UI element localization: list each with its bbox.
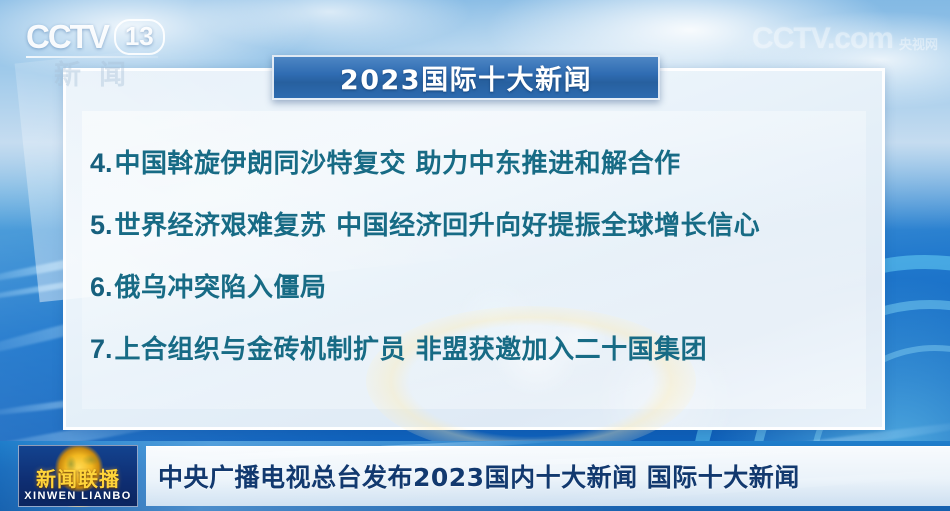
news-list-item: 7. 上合组织与金砖机制扩员 非盟获邀加入二十国集团 [90,329,858,366]
news-item-number: 6. [90,272,113,303]
news-item-number: 4. [90,148,113,179]
news-content-panel: 新闻 4. 中国斡旋伊朗同沙特复交 助力中东推进和解合作 5. 世界经济艰难复苏… [63,68,885,430]
lower-third-bar: 新闻联播 XINWEN LIANBO 中央广播电视总台发布2023国内十大新闻 … [0,441,950,511]
cctv-logo-text: CCTV [26,18,108,56]
ticker-bar: 中央广播电视总台发布2023国内十大新闻 国际十大新闻 [146,446,950,506]
watermark-latin-text: CCTV.com [752,22,893,56]
cctv-com-watermark: CCTV.com 央视网 [752,22,938,56]
headline-title-text: 2023国际十大新闻 [340,58,592,97]
ticker-headline-text: 中央广播电视总台发布2023国内十大新闻 国际十大新闻 [158,458,800,494]
watermark-chinese-text: 央视网 [899,37,938,53]
xinwen-lianbo-logo: 新闻联播 XINWEN LIANBO [18,445,138,507]
news-list-item: 4. 中国斡旋伊朗同沙特复交 助力中东推进和解合作 [90,143,858,180]
xinwen-lianbo-chinese-text: 新闻联播 [36,468,120,490]
news-list: 4. 中国斡旋伊朗同沙特复交 助力中东推进和解合作 5. 世界经济艰难复苏 中国… [90,143,858,391]
news-item-headline: 俄乌冲突陷入僵局 [115,267,327,304]
news-list-item: 6. 俄乌冲突陷入僵局 [90,267,858,304]
news-item-headline: 上合组织与金砖机制扩员 非盟获邀加入二十国集团 [115,329,708,366]
news-item-headline: 世界经济艰难复苏 中国经济回升向好提振全球增长信心 [115,205,761,242]
news-item-number: 5. [90,210,113,241]
broadcast-frame: CCTV 13 CCTV.com 央视网 新闻 4. 中国斡旋伊朗同沙特复交 助… [0,0,950,511]
xinwen-lianbo-latin-text: XINWEN LIANBO [24,490,131,503]
news-list-item: 5. 世界经济艰难复苏 中国经济回升向好提振全球增长信心 [90,205,858,242]
news-item-number: 7. [90,334,113,365]
cctv-channel-logo: CCTV 13 [26,18,165,56]
headline-title-banner: 2023国际十大新闻 [272,55,660,100]
cctv-channel-number: 13 [114,19,165,55]
news-item-headline: 中国斡旋伊朗同沙特复交 助力中东推进和解合作 [115,143,681,180]
news-panel-watermark: 新闻 [54,53,144,92]
